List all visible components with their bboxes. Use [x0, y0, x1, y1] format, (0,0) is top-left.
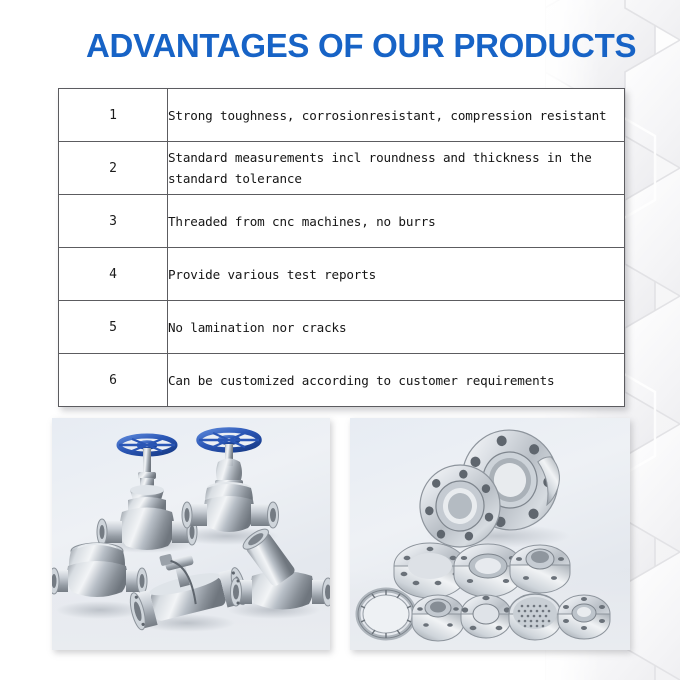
product-photo-valves: Stainless steel industrial valves with b…	[52, 418, 330, 650]
row-number: 5	[59, 301, 168, 354]
table-row: 6 Can be customized according to custome…	[59, 354, 625, 407]
table-row: 4 Provide various test reports	[59, 248, 625, 301]
row-number: 1	[59, 89, 168, 142]
slide-canvas: ADVANTAGES OF OUR PRODUCTS 1 Strong toug…	[0, 0, 680, 680]
product-photo-flanges: Stainless steel pipe flanges of various …	[350, 418, 630, 650]
advantages-table-body: 1 Strong toughness, corrosionresistant, …	[59, 89, 625, 407]
flanges-illustration	[350, 418, 630, 650]
row-text: Provide various test reports	[168, 248, 625, 301]
row-number: 2	[59, 142, 168, 195]
row-text: Strong toughness, corrosionresistant, co…	[168, 89, 625, 142]
table-row: 3 Threaded from cnc machines, no burrs	[59, 195, 625, 248]
row-text: Standard measurements incl roundness and…	[168, 142, 625, 195]
row-text: Threaded from cnc machines, no burrs	[168, 195, 625, 248]
row-number: 3	[59, 195, 168, 248]
page-title: ADVANTAGES OF OUR PRODUCTS	[86, 27, 636, 65]
advantages-table-container: 1 Strong toughness, corrosionresistant, …	[58, 88, 625, 407]
table-row: 1 Strong toughness, corrosionresistant, …	[59, 89, 625, 142]
row-number: 4	[59, 248, 168, 301]
table-row: 2 Standard measurements incl roundness a…	[59, 142, 625, 195]
row-number: 6	[59, 354, 168, 407]
row-text: Can be customized according to customer …	[168, 354, 625, 407]
table-row: 5 No lamination nor cracks	[59, 301, 625, 354]
row-text: No lamination nor cracks	[168, 301, 625, 354]
valves-illustration	[52, 418, 330, 650]
advantages-table: 1 Strong toughness, corrosionresistant, …	[58, 88, 625, 407]
